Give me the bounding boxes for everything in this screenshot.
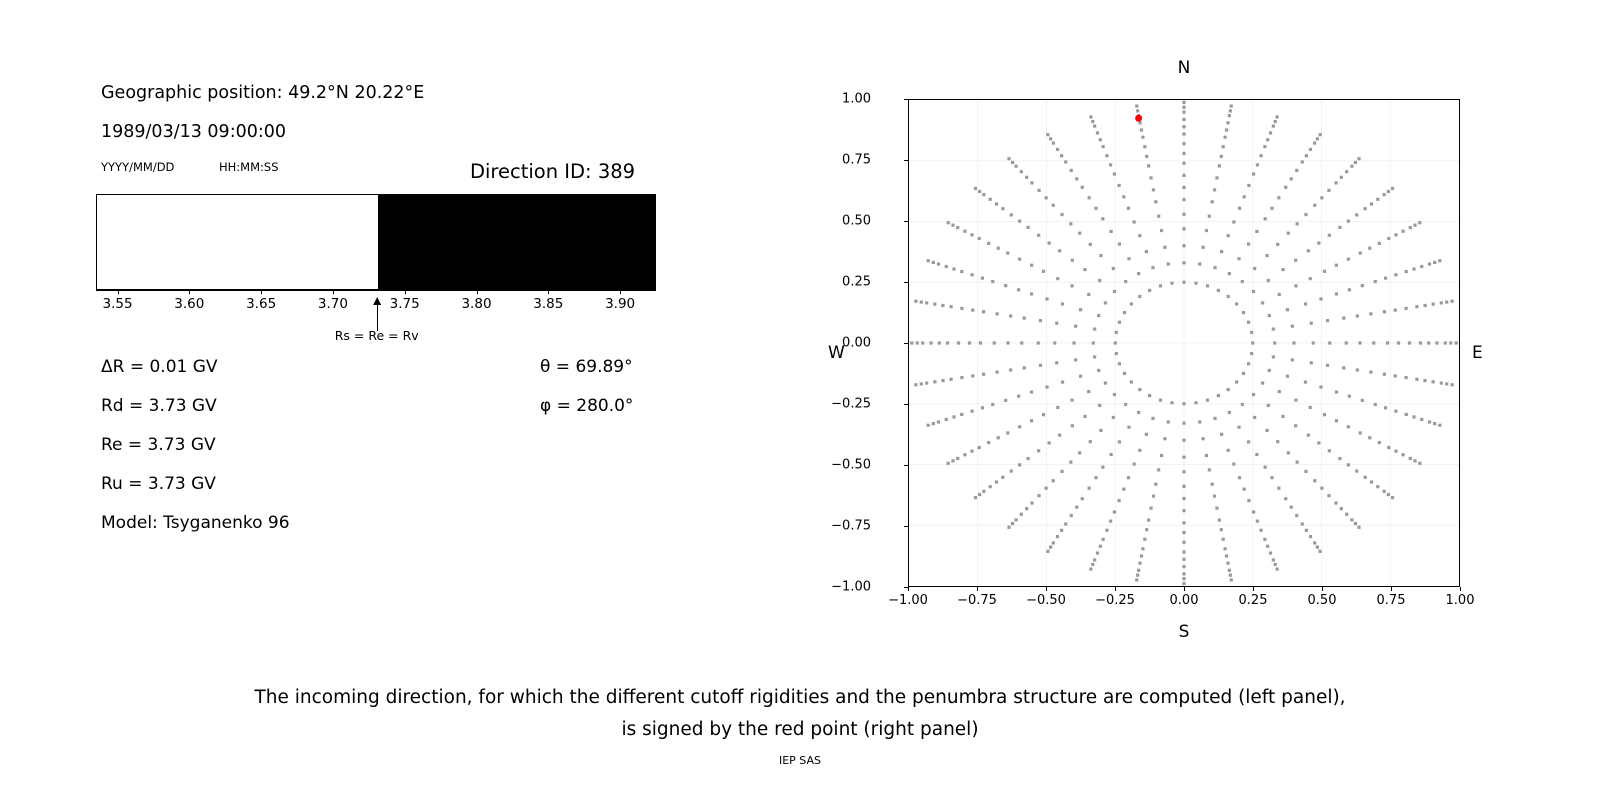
y-axis-tick-mark <box>904 282 908 283</box>
x-axis-tick-label: −0.75 <box>957 593 997 608</box>
x-axis-tick-label: 0.25 <box>1239 593 1268 608</box>
compass-label-east: E <box>1472 343 1483 363</box>
rs-re-rv-label: Rs = Re = Rv <box>335 328 419 343</box>
date-format-hint: YYYY/MM/DD <box>101 160 174 174</box>
y-axis-tick-label: 0.00 <box>842 336 871 351</box>
y-axis-tick-label: 0.75 <box>842 153 871 168</box>
footer-credit: IEP SAS <box>0 754 1600 767</box>
parameter-row: Re = 3.73 GV <box>101 435 216 455</box>
y-axis-tick-label: 0.50 <box>842 214 871 229</box>
x-axis-tick-label: 0.00 <box>1170 593 1199 608</box>
grid-lines <box>909 100 1459 586</box>
penumbra-forbidden-region <box>378 195 656 289</box>
y-axis-tick-mark <box>904 343 908 344</box>
parameter-row: Rd = 3.73 GV <box>101 396 217 416</box>
y-axis-tick-label: −0.25 <box>831 397 871 412</box>
parameter-row: φ = 280.0° <box>540 396 633 416</box>
datetime-text: 1989/03/13 09:00:00 <box>101 122 286 142</box>
penumbra-bar-background <box>96 194 656 290</box>
x-axis-tick-mark <box>1391 587 1392 591</box>
selected-direction-point <box>1135 115 1142 122</box>
x-axis-tick-mark <box>1115 587 1116 591</box>
x-axis-tick-mark <box>1253 587 1254 591</box>
figure-caption: The incoming direction, for which the di… <box>0 682 1600 746</box>
left-panel: Geographic position: 49.2°N 20.22°E 1989… <box>0 0 800 660</box>
caption-line-2: is signed by the red point (right panel) <box>0 714 1600 746</box>
x-axis-tick-mark <box>1184 587 1185 591</box>
compass-label-north: N <box>1178 58 1191 78</box>
direction-id-text: Direction ID: 389 <box>470 160 635 183</box>
parameter-row: Model: Tsyganenko 96 <box>101 513 290 533</box>
y-axis-tick-label: −0.50 <box>831 458 871 473</box>
y-axis-tick-mark <box>904 465 908 466</box>
x-axis-tick-label: −0.25 <box>1095 593 1135 608</box>
x-axis-tick-mark <box>1322 587 1323 591</box>
x-axis-tick-mark <box>908 587 909 591</box>
x-axis-tick-label: 0.75 <box>1377 593 1406 608</box>
y-axis-tick-mark <box>904 404 908 405</box>
parameter-row: θ = 69.89° <box>540 357 633 377</box>
y-axis-tick-mark <box>904 160 908 161</box>
x-axis-tick-mark <box>977 587 978 591</box>
time-format-hint: HH:MM:SS <box>219 160 279 174</box>
y-axis-tick-label: 1.00 <box>842 92 871 107</box>
x-axis-tick-label: −0.50 <box>1026 593 1066 608</box>
y-axis-tick-label: −1.00 <box>831 580 871 595</box>
x-axis-tick-label: 0.50 <box>1308 593 1337 608</box>
parameter-row: Ru = 3.73 GV <box>101 474 216 494</box>
arrow-shaft <box>377 303 378 331</box>
y-axis-tick-mark <box>904 221 908 222</box>
arrow-head <box>373 297 381 305</box>
direction-sky-map-panel: N S W E −1.00−0.75−0.50−0.250.000.250.50… <box>820 30 1520 650</box>
caption-line-1: The incoming direction, for which the di… <box>0 682 1600 714</box>
parameter-row: ΔR = 0.01 GV <box>101 357 218 377</box>
x-axis-tick-mark <box>1460 587 1461 591</box>
compass-label-south: S <box>1179 622 1190 642</box>
geographic-position-text: Geographic position: 49.2°N 20.22°E <box>101 83 424 103</box>
x-axis-tick-label: −1.00 <box>888 593 928 608</box>
x-axis-tick-label: 1.00 <box>1446 593 1475 608</box>
y-axis-tick-label: −0.75 <box>831 519 871 534</box>
x-axis-tick-mark <box>1046 587 1047 591</box>
y-axis-tick-mark <box>904 99 908 100</box>
scatter-plot-area <box>908 99 1460 587</box>
penumbra-structure-bar <box>96 194 656 290</box>
y-axis-tick-mark <box>904 526 908 527</box>
y-axis-tick-label: 0.25 <box>842 275 871 290</box>
scatter-canvas <box>909 100 1459 586</box>
